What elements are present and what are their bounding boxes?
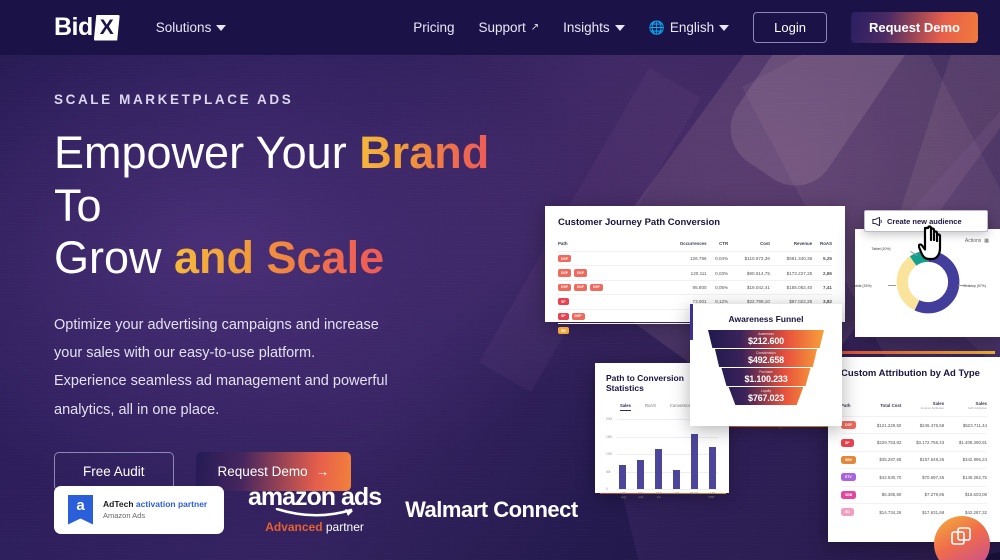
col-sublabel: bidX Attribution [944, 406, 987, 410]
nav-item-insights[interactable]: Insights [563, 20, 625, 35]
headline-part-1: Empower Your [54, 127, 359, 178]
subcopy-line: Optimize your advertising campaigns and … [54, 311, 524, 339]
customer-journey-title: Customer Journey Path Conversion [558, 217, 832, 228]
amazon-ads-logo: amazon ads Advanced partner [248, 485, 381, 534]
ad-type-badge: SBV [841, 456, 856, 464]
cell-ctr: 0,03% [707, 266, 729, 280]
cell-path: SBB [841, 486, 864, 503]
donut-label-tablet: Tablet (10%) [872, 247, 891, 251]
cell-roas: 7,41 [812, 280, 832, 294]
path-badge: SP [558, 298, 569, 305]
headline-highlight-scale: and Scale [174, 232, 384, 283]
amazon-ads-wordmark: amazon ads [248, 485, 381, 510]
path-conversion-plot: 050t100t150t200t [606, 419, 718, 489]
cell-total-cost: $14.734,26 [864, 503, 901, 520]
funnel-stage: Consideration $492.658 [711, 349, 822, 368]
adtech-badge-title-bold: AdTech [103, 499, 136, 509]
headline-part-3: Grow [54, 232, 174, 283]
tab-sales[interactable]: Sales [620, 403, 631, 411]
login-button[interactable]: Login [753, 12, 827, 43]
cell-sales-bidx: $149.282,75 [944, 469, 987, 486]
cell-sales-bidx: $523.711,44 [944, 417, 987, 434]
funnel-stage-label: Awareness [708, 330, 824, 336]
table-row: DSP 126.786 0,04% $110.673,36 $581.340,3… [558, 252, 832, 266]
amazon-smile-icon [267, 508, 362, 519]
cell-roas: 2,86 [812, 266, 832, 280]
brand-logo[interactable]: Bid X [54, 13, 120, 42]
card-orange-edge [833, 351, 995, 354]
x-axis-label: PPC only [637, 492, 646, 499]
custom-attribution-title: Custom Attribution by Ad Type [841, 368, 987, 379]
y-axis-tick: 0 [606, 487, 608, 491]
arrow-right-icon: → [316, 464, 330, 479]
nav-item-support[interactable]: Support ↗ [478, 20, 539, 35]
bar-1 [637, 460, 644, 489]
path-badge: DSP [558, 284, 571, 291]
cell-total-cost: $42.530,70 [864, 469, 901, 486]
col-sales: SalesAmazon Attribution [901, 401, 944, 417]
cell-path: SPDSP [558, 309, 662, 323]
y-axis-tick: 200t [606, 417, 612, 421]
cell-ctr: 0,05% [707, 280, 729, 294]
path-badge: SB [558, 327, 569, 334]
col-total-cost: Total Cost [864, 401, 901, 417]
path-badge: SP [558, 313, 569, 320]
funnel-stage-value: $492.658 [711, 355, 822, 367]
col-roas: RoAS [812, 241, 832, 252]
cell-revenue: $155.082,40 [770, 280, 812, 294]
cell-path: SD [841, 503, 864, 520]
table-row: DSP $121.229,50 $246.476,58 $523.711,44 [841, 417, 987, 434]
subcopy-line: analytics, all in one place. [54, 396, 524, 424]
cell-path: SBV [841, 451, 864, 468]
table-header-row: PathTotal CostSalesAmazon AttributionSal… [841, 401, 987, 417]
adtech-partner-badge: a AdTech activation partner Amazon Ads [54, 486, 224, 534]
nav-item-support-label: Support [478, 20, 525, 35]
table-row: SP $229.753,82 $3.172.756,43 $1.408.390,… [841, 434, 987, 451]
path-badge: DSP [574, 269, 587, 276]
mouse-cursor-hand-icon [918, 222, 950, 262]
grid-icon: ▦ [984, 238, 989, 244]
custom-attribution-table: PathTotal CostSalesAmazon AttributionSal… [841, 401, 987, 520]
table-row: DSPDSP 120.111 0,03% $60.614,75 $173.227… [558, 266, 832, 280]
walmart-connect-logo: Walmart Connect [405, 497, 578, 523]
cell-occurrences: 126.786 [662, 252, 706, 266]
cell-sales-amazon: $17.631,68 [901, 503, 944, 520]
hero-request-demo-label: Request Demo [218, 464, 308, 479]
x-axis-label: 1 SP [672, 492, 681, 499]
globe-icon: 🌐 [649, 20, 665, 36]
bar-3 [673, 470, 680, 489]
funnel-stage: Loyalty $767.023 [716, 387, 817, 406]
chevron-down-icon [615, 25, 625, 31]
cell-roas: 5,25 [812, 252, 832, 266]
amazon-a-icon: a [68, 495, 93, 525]
bar-5 [709, 447, 716, 489]
nav-item-pricing[interactable]: Pricing [413, 20, 454, 35]
primary-nav: Solutions [156, 20, 227, 35]
stacked-squares-icon [951, 527, 973, 549]
cell-path: DSPDSPDSP [558, 280, 662, 294]
x-axis-label: SB SP [689, 492, 698, 499]
x-axis-label: +2 TP DSP [707, 492, 716, 499]
cell-total-cost: $229.753,82 [864, 434, 901, 451]
funnel-accent-bar [690, 304, 693, 340]
chevron-down-icon [216, 25, 226, 31]
table-header-row: Path Occurrences CTR Cost Revenue RoAS [558, 241, 832, 252]
path-badge: DSP [590, 284, 603, 291]
awareness-funnel-stages: Awareness $212.600Consideration $492.658… [701, 330, 831, 406]
hero-content: SCALE MARKETPLACE ADS Empower Your Brand… [54, 92, 524, 491]
table-row: SBB $6.385,80 $7.279,86 $16.603,08 [841, 486, 987, 503]
cell-sales-amazon: $70.697,46 [901, 469, 944, 486]
brand-logo-mark: X [94, 15, 120, 41]
cell-sales-amazon: $3.172.756,43 [901, 434, 944, 451]
col-path: Path [841, 401, 864, 417]
cell-path: DSP [841, 417, 864, 434]
amazon-partner-tier: Advanced partner [265, 520, 364, 534]
cell-cost: $110.673,36 [728, 252, 770, 266]
cell-sales-amazon: $246.476,58 [901, 417, 944, 434]
funnel-stage-label: Purchase [713, 368, 819, 374]
funnel-stage: Awareness $212.600 [708, 330, 824, 349]
y-axis-tick: 50t [606, 470, 610, 474]
col-occurrences: Occurrences [662, 241, 706, 252]
adtech-badge-title: AdTech activation partner [103, 499, 207, 509]
cell-cost: $19.042,41 [728, 280, 770, 294]
cell-occurrences: 120.111 [662, 266, 706, 280]
funnel-stage: Purchase $1.100.233 [713, 368, 819, 387]
cell-occurrences: 95.800 [662, 280, 706, 294]
path-badge: DSP [574, 284, 587, 291]
hero-headline: Empower Your Brand To Grow and Scale [54, 127, 524, 285]
cell-total-cost: $6.385,80 [864, 486, 901, 503]
external-link-icon: ↗ [531, 22, 539, 33]
cell-sales-bidx: $16.603,08 [944, 486, 987, 503]
col-revenue: Revenue [770, 241, 812, 252]
cell-path: SB [558, 323, 662, 337]
amazon-partner-tier-rest: partner [323, 520, 364, 534]
path-badge: DSP [572, 313, 585, 320]
language-selector-label: English [670, 20, 714, 35]
headline-highlight-brand: Brand [359, 127, 489, 178]
donut-leader-line [888, 285, 896, 286]
awareness-funnel-card: Awareness Funnel Awareness $212.600Consi… [690, 304, 842, 426]
nav-item-solutions-label: Solutions [156, 20, 212, 35]
cell-path: DSP [558, 252, 662, 266]
cell-sales-amazon: $157.648,26 [901, 451, 944, 468]
col-ctr: CTR [707, 241, 729, 252]
ad-type-badge: SP [841, 439, 854, 447]
ad-type-badge: SD [841, 508, 854, 516]
cell-revenue: $581.340,36 [770, 252, 812, 266]
hero-subcopy: Optimize your advertising campaigns and … [54, 311, 524, 424]
x-axis-label: DSP 1st [654, 492, 663, 499]
donut-label-mobile: Mobile (33%) [852, 284, 872, 288]
bar-4 [691, 434, 698, 489]
table-row: DSPDSPDSP 95.800 0,05% $19.042,41 $155.0… [558, 280, 832, 294]
nav-item-pricing-label: Pricing [413, 20, 454, 35]
language-selector[interactable]: 🌐 English [649, 20, 729, 36]
y-axis-tick: 150t [606, 435, 612, 439]
table-row: SBV $35.287,68 $157.648,26 $342.996,24 [841, 451, 987, 468]
y-axis-tick: 100t [606, 452, 612, 456]
cell-ctr: 0,04% [707, 252, 729, 266]
table-row: STV $42.530,70 $70.697,46 $149.282,75 [841, 469, 987, 486]
adtech-badge-title-accent: activation partner [136, 499, 207, 509]
donut-leader-line [958, 285, 966, 286]
plot-bars [619, 427, 716, 489]
funnel-stage-value: $767.023 [716, 393, 817, 405]
path-badge: DSP [558, 269, 571, 276]
cell-sales-amazon: $7.279,86 [901, 486, 944, 503]
megaphone-icon [872, 217, 882, 226]
col-sales: SalesbidX Attribution [944, 401, 987, 417]
col-sublabel: Amazon Attribution [901, 406, 944, 410]
amazon-partner-tier-bold: Advanced [265, 520, 322, 534]
nav-item-insights-label: Insights [563, 20, 610, 35]
col-path: Path [558, 241, 662, 252]
cell-path: STV [841, 469, 864, 486]
header-request-demo-button[interactable]: Request Demo [851, 12, 978, 43]
chevron-down-icon [719, 25, 729, 31]
funnel-stage-value: $1.100.233 [713, 374, 819, 386]
cell-path: SP [841, 434, 864, 451]
funnel-stage-label: Consideration [711, 349, 822, 355]
awareness-funnel-title: Awareness Funnel [701, 314, 831, 324]
cell-cost: $60.614,75 [728, 266, 770, 280]
brand-logo-text: Bid [54, 13, 93, 42]
cell-sales-bidx: $342.996,24 [944, 451, 987, 468]
cell-path: SP [558, 295, 662, 309]
hero-eyebrow: SCALE MARKETPLACE ADS [54, 92, 524, 107]
headline-part-2: To [54, 180, 102, 231]
ad-type-badge: SBB [841, 491, 856, 499]
col-cost: Cost [728, 241, 770, 252]
funnel-stage-value: $212.600 [708, 336, 824, 348]
donut-label-desktop: Desktop (57%) [964, 284, 986, 288]
funnel-stage-label: Loyalty [716, 387, 817, 393]
custom-attribution-card: Custom Attribution by Ad Type PathTotal … [828, 357, 1000, 542]
x-axis-label: DSP only [619, 492, 628, 499]
partner-logos: a AdTech activation partner Amazon Ads a… [54, 485, 578, 534]
cell-total-cost: $121.229,50 [864, 417, 901, 434]
bar-0 [619, 465, 626, 489]
tab-roas[interactable]: RoAS [645, 403, 656, 411]
plot-x-labels: DSP onlyPPC onlyDSP 1st1 SPSB SP+2 TP DS… [606, 492, 718, 499]
subcopy-line: Experience seamless ad management and po… [54, 367, 524, 395]
cell-path: DSPDSP [558, 266, 662, 280]
ad-type-badge: DSP [841, 421, 856, 429]
cell-sales-bidx: $1.408.390,91 [944, 434, 987, 451]
nav-item-solutions[interactable]: Solutions [156, 20, 227, 35]
cell-revenue: $173.227,25 [770, 266, 812, 280]
site-header: Bid X Solutions Pricing Support ↗ Insigh… [0, 0, 1000, 55]
adtech-badge-subtitle: Amazon Ads [103, 511, 207, 520]
cell-total-cost: $35.287,68 [864, 451, 901, 468]
ad-type-badge: STV [841, 473, 856, 481]
subcopy-line: your sales with our easy-to-use platform… [54, 339, 524, 367]
bar-2 [655, 449, 662, 490]
path-badge: DSP [558, 255, 571, 262]
custom-attribution-rows: DSP $121.229,50 $246.476,58 $523.711,44S… [841, 417, 987, 521]
secondary-nav: Pricing Support ↗ Insights 🌐 English Log… [413, 12, 978, 43]
donut-actions-label: Actions [965, 238, 981, 244]
